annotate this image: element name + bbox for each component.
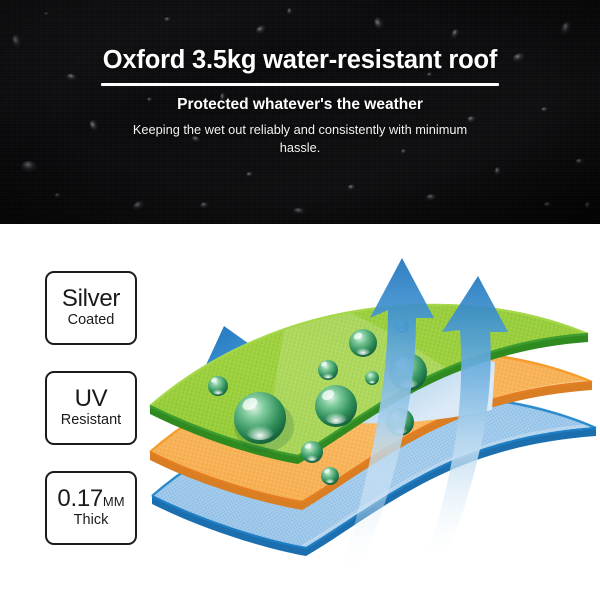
badge-primary-label: UV	[75, 387, 108, 411]
title-divider	[101, 83, 499, 86]
hero-panel: Oxford 3.5kg water-resistant roof Protec…	[0, 0, 600, 224]
badge-secondary-label: Coated	[68, 313, 115, 329]
feature-panel: Silver Coated UV Resistant 0.17MM Thick	[0, 224, 600, 600]
hero-subtitle: Protected whatever's the weather	[177, 96, 423, 114]
badge-uv-resistant: UV Resistant	[45, 371, 137, 445]
badge-secondary-label: Resistant	[61, 413, 121, 429]
hero-text-block: Oxford 3.5kg water-resistant roof Protec…	[0, 0, 600, 224]
hero-description: Keeping the wet out reliably and consist…	[120, 121, 480, 157]
fabric-layers-svg	[140, 234, 600, 594]
badge-secondary-label: Thick	[74, 513, 109, 529]
feature-badge-list: Silver Coated UV Resistant 0.17MM Thick	[45, 271, 139, 545]
badge-primary-label: 0.17MM	[57, 487, 124, 511]
product-feature-banner: Oxford 3.5kg water-resistant roof Protec…	[0, 0, 600, 600]
badge-primary-label: Silver	[62, 287, 120, 311]
three-layer-fabric-diagram	[140, 234, 600, 594]
page-title: Oxford 3.5kg water-resistant roof	[103, 46, 497, 74]
badge-thickness: 0.17MM Thick	[45, 471, 137, 545]
badge-silver-coated: Silver Coated	[45, 271, 137, 345]
badge-thickness-unit: MM	[103, 494, 125, 509]
badge-thickness-value: 0.17	[57, 485, 103, 512]
